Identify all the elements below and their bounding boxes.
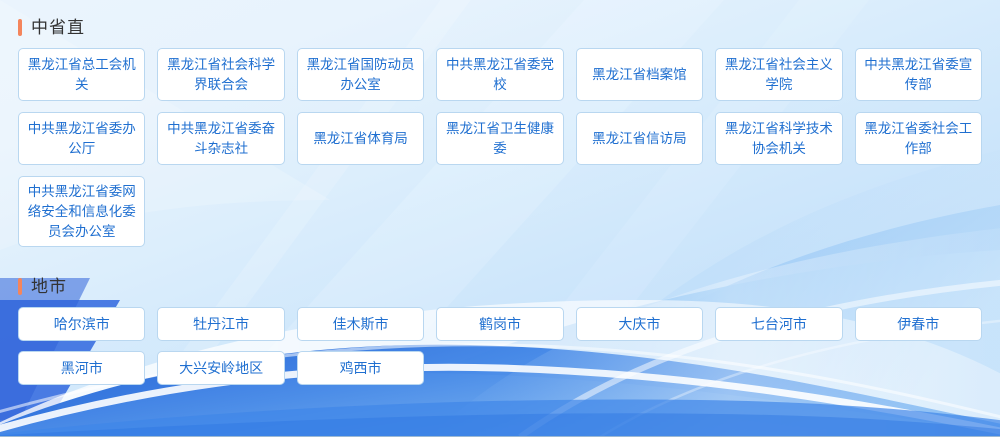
section-header-central-provincial: 中省直	[18, 0, 982, 46]
org-card[interactable]: 黑龙江省卫生健康委	[436, 112, 563, 165]
org-card[interactable]: 黑龙江省社会主义学院	[715, 48, 842, 101]
org-card[interactable]: 黑龙江省总工会机关	[18, 48, 145, 101]
section-prefecture-cities: 地市 哈尔滨市 牡丹江市 佳木斯市 鹤岗市 大庆市 七台河市 伊春市 黑河市 大…	[18, 259, 982, 385]
org-card[interactable]: 中共黑龙江省委奋斗杂志社	[157, 112, 284, 165]
org-card[interactable]: 黑龙江省国防动员办公室	[297, 48, 424, 101]
city-card[interactable]: 大庆市	[576, 307, 703, 341]
org-card[interactable]: 中共黑龙江省委党校	[436, 48, 563, 101]
org-card[interactable]: 中共黑龙江省委网络安全和信息化委员会办公室	[18, 176, 145, 247]
section-spacer	[18, 247, 982, 259]
card-grid-prefecture-cities: 哈尔滨市 牡丹江市 佳木斯市 鹤岗市 大庆市 七台河市 伊春市 黑河市 大兴安岭…	[18, 307, 982, 385]
city-card[interactable]: 黑河市	[18, 351, 145, 385]
city-card[interactable]: 佳木斯市	[297, 307, 424, 341]
org-card[interactable]: 黑龙江省体育局	[297, 112, 424, 165]
org-card[interactable]: 黑龙江省社会科学界联合会	[157, 48, 284, 101]
city-card[interactable]: 七台河市	[715, 307, 842, 341]
accent-bar-icon	[18, 19, 22, 36]
org-card[interactable]: 黑龙江省信访局	[576, 112, 703, 165]
org-card[interactable]: 中共黑龙江省委宣传部	[855, 48, 982, 101]
card-grid-central-provincial: 黑龙江省总工会机关 黑龙江省社会科学界联合会 黑龙江省国防动员办公室 中共黑龙江…	[18, 48, 982, 247]
city-card[interactable]: 牡丹江市	[157, 307, 284, 341]
content-area: 中省直 黑龙江省总工会机关 黑龙江省社会科学界联合会 黑龙江省国防动员办公室 中…	[0, 0, 1000, 385]
org-card[interactable]: 黑龙江省委社会工作部	[855, 112, 982, 165]
section-title: 中省直	[31, 19, 85, 36]
city-card[interactable]: 鸡西市	[297, 351, 424, 385]
section-title: 地市	[31, 278, 67, 295]
section-header-prefecture-cities: 地市	[18, 259, 982, 305]
section-central-provincial: 中省直 黑龙江省总工会机关 黑龙江省社会科学界联合会 黑龙江省国防动员办公室 中…	[18, 0, 982, 247]
org-card[interactable]: 黑龙江省科学技术协会机关	[715, 112, 842, 165]
city-card[interactable]: 鹤岗市	[436, 307, 563, 341]
city-card[interactable]: 大兴安岭地区	[157, 351, 284, 385]
city-card[interactable]: 伊春市	[855, 307, 982, 341]
accent-bar-icon	[18, 278, 22, 295]
org-card[interactable]: 黑龙江省档案馆	[576, 48, 703, 101]
page-root: 中省直 黑龙江省总工会机关 黑龙江省社会科学界联合会 黑龙江省国防动员办公室 中…	[0, 0, 1000, 437]
org-card[interactable]: 中共黑龙江省委办公厅	[18, 112, 145, 165]
city-card[interactable]: 哈尔滨市	[18, 307, 145, 341]
